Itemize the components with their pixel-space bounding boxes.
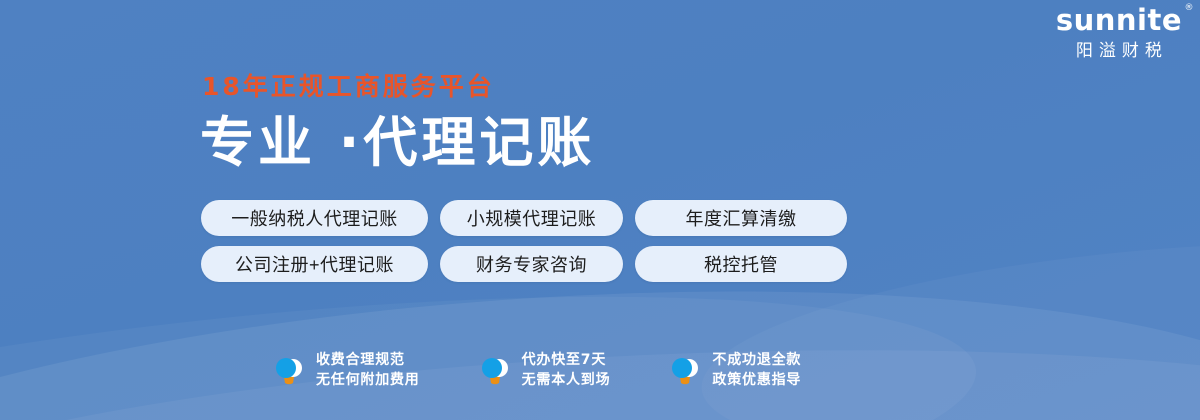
brand-logo[interactable]: sunnite ® 阳溢财税 [1056, 6, 1182, 59]
service-pill-company-registration-bookkeeping[interactable]: 公司注册+代理记账 [201, 246, 428, 282]
coin-circle-icon [480, 354, 510, 386]
feature-item-pricing: 收费合理规范 无任何附加费用 [274, 350, 420, 391]
feature-text: 收费合理规范 无任何附加费用 [316, 350, 420, 391]
service-pill-annual-settlement[interactable]: 年度汇算清缴 [635, 200, 847, 236]
registered-trademark-icon: ® [1185, 4, 1195, 13]
coin-circle-icon [274, 354, 304, 386]
feature-line-2: 无需本人到场 [522, 370, 611, 390]
page-title: 专业 ·代理记账 [200, 115, 595, 172]
logo-wordmark: sunnite ® [1056, 6, 1182, 35]
feature-line-1: 代办快至7天 [522, 350, 611, 370]
feature-text: 不成功退全款 政策优惠指导 [712, 350, 801, 391]
logo-chinese-name: 阳溢财税 [1056, 42, 1182, 59]
service-pill-row: 公司注册+代理记账 财务专家咨询 税控托管 [201, 246, 847, 282]
feature-item-guarantee: 不成功退全款 政策优惠指导 [670, 350, 801, 391]
promo-banner: sunnite ® 阳溢财税 18年正规工商服务平台 专业 ·代理记账 一般纳税… [0, 0, 1200, 420]
headline-block: 18年正规工商服务平台 专业 ·代理记账 [200, 74, 595, 172]
coin-circle-icon [670, 354, 700, 386]
service-pill-small-scale-bookkeeping[interactable]: 小规模代理记账 [440, 200, 623, 236]
feature-line-2: 政策优惠指导 [712, 370, 801, 390]
service-pill-general-taxpayer-bookkeeping[interactable]: 一般纳税人代理记账 [201, 200, 428, 236]
feature-line-1: 收费合理规范 [316, 350, 420, 370]
service-pill-tax-control-hosting[interactable]: 税控托管 [635, 246, 847, 282]
service-pill-grid: 一般纳税人代理记账 小规模代理记账 年度汇算清缴 公司注册+代理记账 财务专家咨… [201, 200, 847, 282]
feature-item-speed: 代办快至7天 无需本人到场 [480, 350, 611, 391]
tagline: 18年正规工商服务平台 [202, 74, 595, 99]
feature-line-2: 无任何附加费用 [316, 370, 420, 390]
service-pill-finance-expert-consulting[interactable]: 财务专家咨询 [440, 246, 623, 282]
logo-wordmark-text: sunnite [1056, 3, 1182, 37]
service-pill-row: 一般纳税人代理记账 小规模代理记账 年度汇算清缴 [201, 200, 847, 236]
feature-list: 收费合理规范 无任何附加费用 代办快至7天 无需本人到场 [274, 350, 801, 391]
feature-text: 代办快至7天 无需本人到场 [522, 350, 611, 391]
feature-line-1: 不成功退全款 [712, 350, 801, 370]
